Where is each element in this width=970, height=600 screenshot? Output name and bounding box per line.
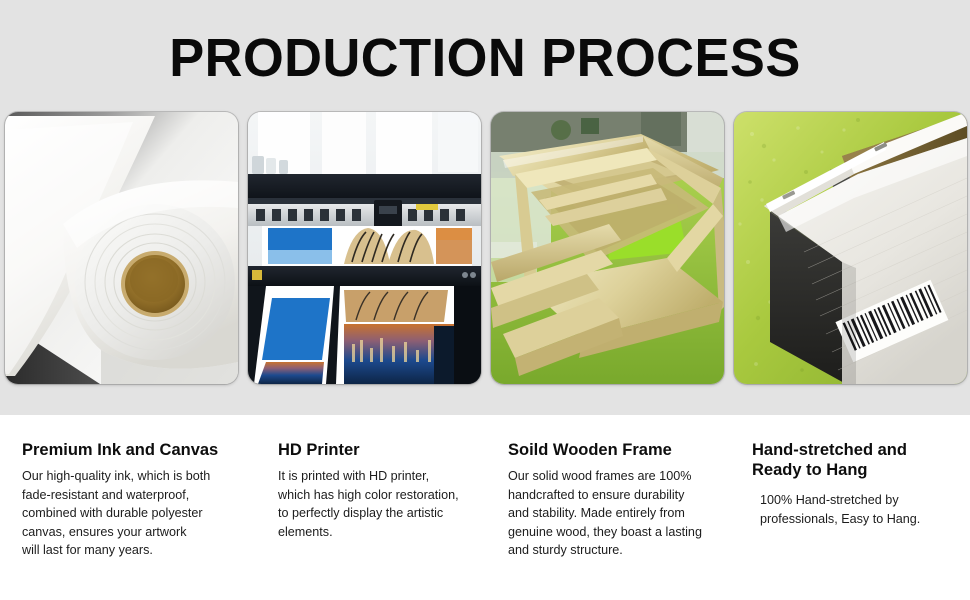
step-image-card-4[interactable]	[734, 112, 967, 384]
step-body-4: 100% Hand-stretched by professionals, Ea…	[752, 487, 960, 528]
step-image-card-3[interactable]	[491, 112, 724, 384]
step-heading-1: Premium Ink and Canvas	[22, 440, 244, 460]
infographic-page: PRODUCTION PROCESS	[0, 0, 970, 600]
step-image-card-2[interactable]	[248, 112, 481, 384]
step-heading-2: HD Printer	[278, 440, 494, 460]
step-column-3: Soild Wooden Frame Our solid wood frames…	[508, 440, 726, 560]
step-column-1: Premium Ink and Canvas Our high-quality …	[22, 440, 244, 560]
page-title: PRODUCTION PROCESS	[15, 28, 956, 88]
hand-stretched-canvas-photo	[734, 112, 967, 384]
step-image-card-1[interactable]	[5, 112, 238, 384]
wooden-frame-photo	[491, 112, 724, 384]
step-descriptions: Premium Ink and Canvas Our high-quality …	[0, 440, 970, 600]
hd-printer-photo	[248, 112, 481, 384]
canvas-roll-photo	[5, 112, 238, 384]
step-body-3: Our solid wood frames are 100% handcraft…	[508, 467, 726, 560]
step-heading-3: Soild Wooden Frame	[508, 440, 726, 460]
photo-strip	[5, 112, 970, 384]
step-body-1: Our high-quality ink, which is both fade…	[22, 467, 244, 560]
step-body-2: It is printed with HD printer, which has…	[278, 467, 494, 541]
step-column-2: HD Printer It is printed with HD printer…	[278, 440, 494, 541]
step-column-4: Hand-stretched and Ready to Hang 100% Ha…	[752, 440, 960, 528]
step-heading-4: Hand-stretched and Ready to Hang	[752, 440, 960, 480]
